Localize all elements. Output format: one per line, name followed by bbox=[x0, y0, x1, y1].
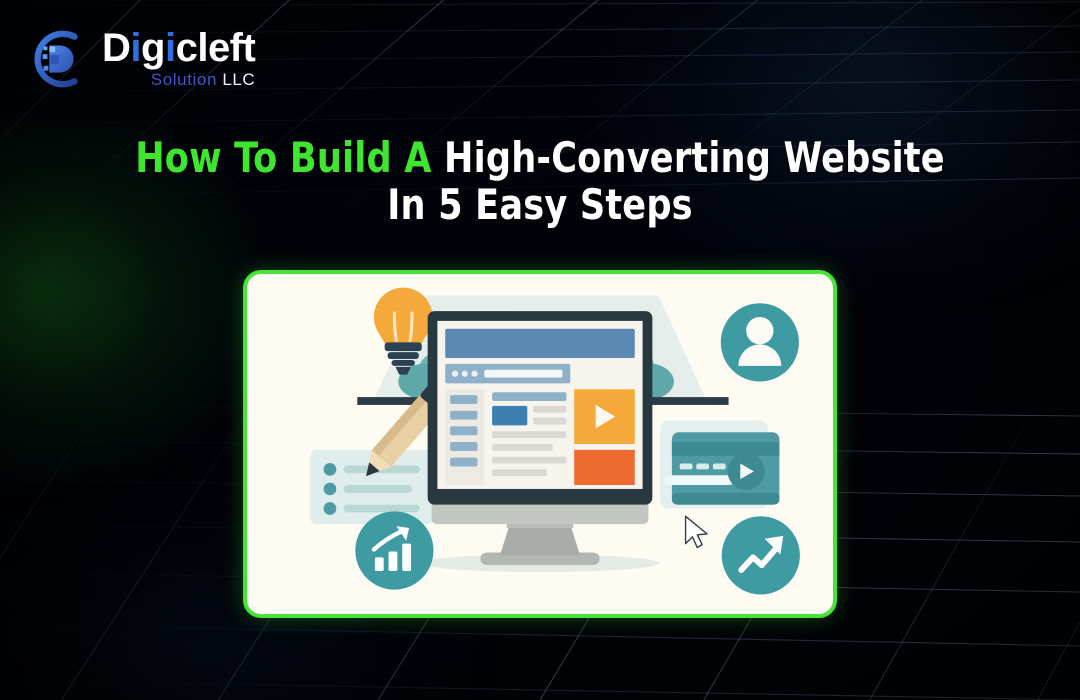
digicleft-logo-icon bbox=[30, 28, 92, 90]
logo-wordmark: Digicleft Solution LLC bbox=[102, 28, 255, 90]
brand-logo[interactable]: Digicleft Solution LLC bbox=[30, 28, 255, 90]
mouse-cursor-icon bbox=[686, 516, 707, 547]
bar-chart-growth-icon bbox=[355, 511, 433, 589]
headline-white-part: High-Converting Website bbox=[444, 133, 945, 182]
screen-header-bar bbox=[445, 329, 635, 358]
credit-card-icon bbox=[660, 421, 779, 509]
website-building-illustration bbox=[247, 274, 833, 614]
illustration-card bbox=[243, 270, 837, 618]
logo-tagline: Solution LLC bbox=[151, 71, 256, 88]
trending-up-arrow-icon bbox=[722, 516, 800, 594]
user-avatar-icon bbox=[721, 303, 799, 381]
screen-banner-tile bbox=[574, 450, 635, 485]
screen-address-bar bbox=[484, 370, 562, 378]
logo-name: Digicleft bbox=[102, 28, 255, 68]
page-title: How To Build A High-Converting WebsiteIn… bbox=[38, 134, 1042, 228]
screen-accent-block bbox=[492, 406, 527, 426]
headline-line-two: In 5 Easy Steps bbox=[387, 180, 693, 229]
desktop-monitor bbox=[421, 311, 659, 572]
headline-green-part: How To Build A bbox=[135, 133, 444, 182]
